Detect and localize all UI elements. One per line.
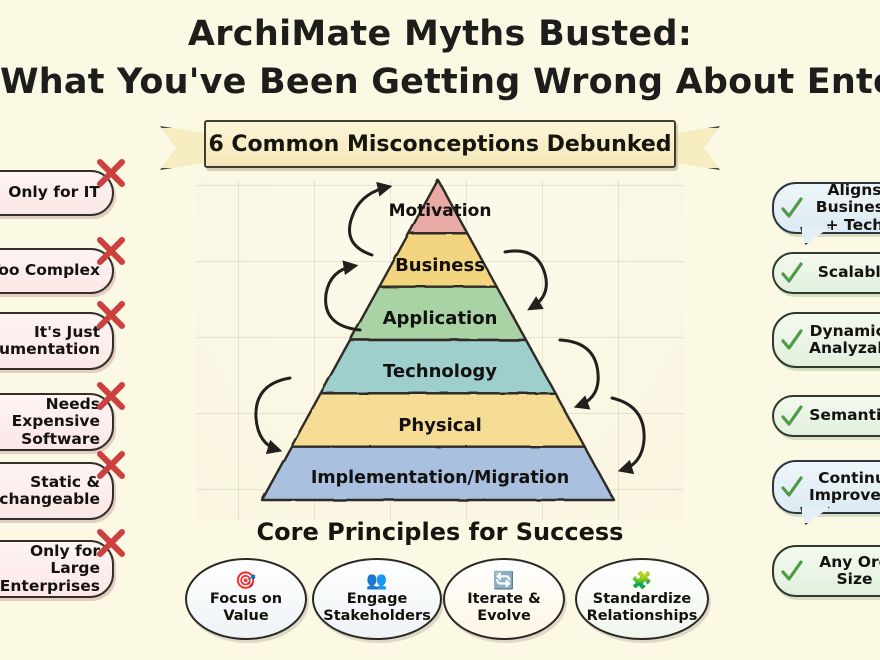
pyramid-layer-label: Physical	[0, 415, 880, 436]
truth-card[interactable]: Scalable	[772, 252, 880, 294]
green-check-icon	[780, 559, 804, 583]
myth-label: Static &Unchangeable	[0, 474, 100, 509]
truth-card[interactable]: Semantics	[772, 395, 880, 437]
page-subtitle: What You've Been Getting Wrong About Ent…	[0, 62, 880, 102]
truth-label: Dynamic &Analyzable	[809, 323, 880, 358]
banner-label: 6 Common Misconceptions Debunked	[204, 120, 676, 168]
green-check-icon	[780, 196, 804, 220]
myth-card[interactable]: Static &Unchangeable	[0, 462, 114, 520]
people-icon: 👥	[366, 573, 387, 590]
myth-label: Only for LargeEnterprises	[0, 543, 100, 595]
pyramid-layer-label: Technology	[0, 361, 880, 382]
truth-card[interactable]: Aligns Business+ Tech	[772, 182, 880, 234]
myth-label: It's JustDocumentation	[0, 324, 100, 359]
truth-label: Aligns Business+ Tech	[809, 182, 880, 234]
pyramid-layer-label: Business	[0, 255, 880, 276]
red-x-icon	[94, 156, 128, 190]
red-x-icon	[94, 234, 128, 268]
myth-card[interactable]: Only for LargeEnterprises	[0, 540, 114, 598]
infographic-canvas: ArchiMate Myths Busted: What You've Been…	[0, 0, 880, 660]
red-x-icon	[94, 379, 128, 413]
principle-circle[interactable]: 👥EngageStakeholders	[312, 558, 442, 640]
pyramid-layer-label: Implementation/Migration	[0, 468, 880, 488]
myth-card[interactable]: Too Complex	[0, 248, 114, 294]
myth-card[interactable]: Needs ExpensiveSoftware	[0, 393, 114, 451]
banner: 6 Common Misconceptions Debunked	[160, 120, 720, 172]
red-x-icon	[94, 448, 128, 482]
myth-label: Too Complex	[0, 262, 100, 279]
green-check-icon	[780, 475, 804, 499]
principle-label: StandardizeRelationships	[587, 591, 698, 624]
myth-card[interactable]: It's JustDocumentation	[0, 312, 114, 370]
myth-label: Only for IT	[8, 184, 100, 201]
green-check-icon	[780, 404, 804, 428]
principle-circle[interactable]: 🔄Iterate &Evolve	[443, 558, 565, 640]
pyramid-layer-label: Motivation	[0, 201, 880, 221]
puzzle-icon: 🧩	[631, 573, 652, 590]
truth-label: Semantics	[809, 407, 880, 424]
core-principles-title: Core Principles for Success	[0, 518, 880, 546]
truth-label: Any OrgSize	[809, 554, 880, 589]
truth-label: ContinuousImprovement	[809, 470, 880, 505]
principle-label: EngageStakeholders	[323, 591, 431, 624]
truth-label: Scalable	[809, 264, 880, 281]
truth-card[interactable]: ContinuousImprovement	[772, 460, 880, 514]
green-check-icon	[780, 261, 804, 285]
target-icon: 🎯	[235, 573, 256, 590]
truth-card[interactable]: Any OrgSize	[772, 545, 880, 597]
red-x-icon	[94, 298, 128, 332]
myth-label: Needs ExpensiveSoftware	[0, 396, 100, 448]
myth-card[interactable]: Only for IT	[0, 170, 114, 216]
truth-card[interactable]: Dynamic &Analyzable	[772, 312, 880, 368]
principle-label: Iterate &Evolve	[467, 591, 541, 624]
principle-circle[interactable]: 🎯Focus onValue	[185, 558, 307, 640]
refresh-icon: 🔄	[493, 573, 514, 590]
principle-circle[interactable]: 🧩StandardizeRelationships	[575, 558, 709, 640]
pyramid-layer-label: Application	[0, 308, 880, 329]
principle-label: Focus onValue	[210, 591, 282, 624]
page-title: ArchiMate Myths Busted:	[0, 14, 880, 54]
green-check-icon	[780, 328, 804, 352]
